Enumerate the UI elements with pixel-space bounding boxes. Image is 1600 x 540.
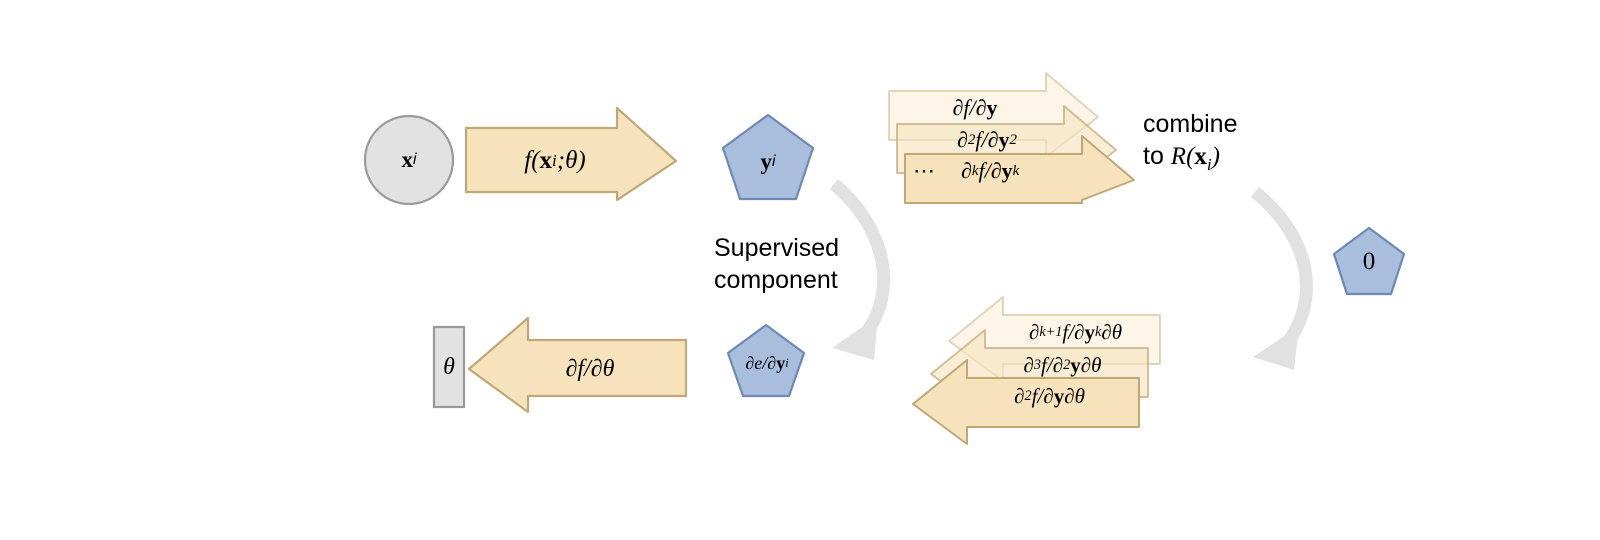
combine-label-close: ) [1212, 143, 1220, 170]
zero-pentagon-shape [1334, 228, 1404, 294]
output-pentagon-shape [723, 115, 813, 199]
combine-label-x: x [1194, 143, 1207, 170]
error-pentagon-shape [728, 325, 804, 396]
zero-flow-curve [1253, 192, 1306, 370]
combine-label-line2: to R(xi) [1143, 140, 1363, 176]
derivative-arrow-stack [889, 73, 1134, 203]
supervised-line2: component [714, 264, 924, 296]
mixed-derivative-arrow-stack [913, 297, 1160, 444]
supervised-line1: Supervised [714, 232, 924, 264]
combine-label: combine to R(xi) [1143, 108, 1363, 176]
theta-box-shape [434, 327, 464, 407]
combine-label-R: R [1171, 143, 1186, 170]
input-circle [365, 116, 453, 204]
supervised-component-label: Supervised component [714, 232, 924, 296]
forward-arrow-shape [466, 108, 676, 200]
combine-label-line1: combine [1143, 108, 1363, 140]
combine-label-to: to [1143, 142, 1171, 170]
gradient-arrow-shape [469, 318, 686, 412]
